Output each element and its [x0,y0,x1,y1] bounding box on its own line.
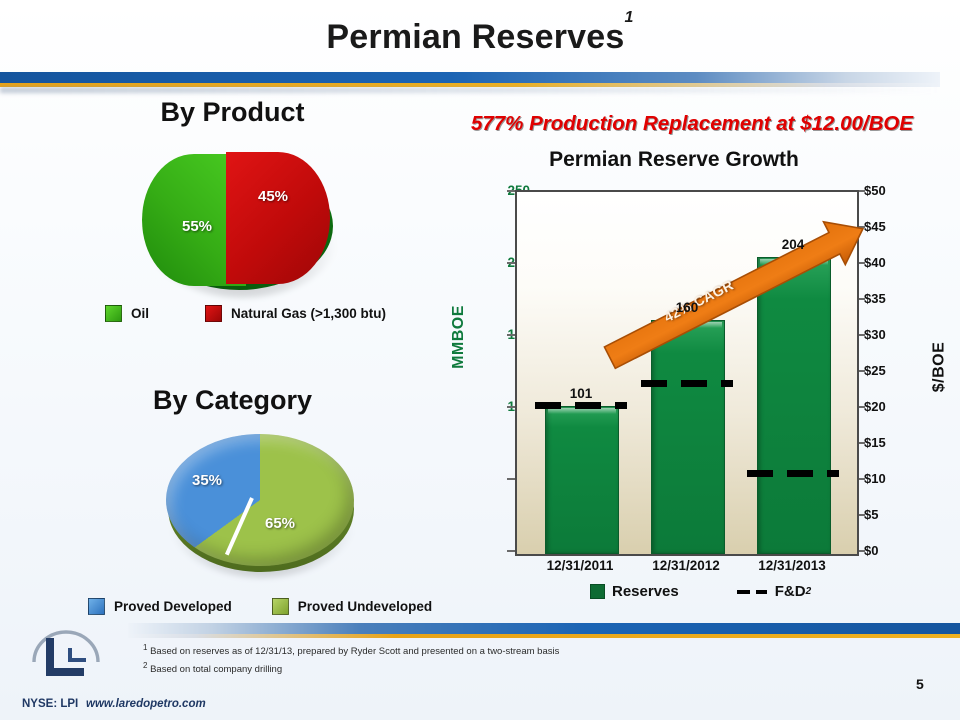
y-tick-right-10: $10 [864,471,910,486]
footnotes: 1 Based on reserves as of 12/31/13, prep… [143,641,559,677]
footnote-2: 2 Based on total company drilling [143,659,559,677]
y-tick-right-40: $40 [864,255,910,270]
legend-swatch-oil [105,305,122,322]
page-title: Permian Reserves1 [0,18,960,57]
x-tick-label-2013: 12/31/2013 [742,558,842,573]
chart-title: Permian Reserve Growth [424,148,924,172]
y-tick-right-0: $0 [864,543,910,558]
y-tick-right-30: $30 [864,327,910,342]
by-category-pie-chart: 35% 65% [150,420,370,585]
x-tick-label-2012: 12/31/2012 [636,558,736,573]
footnote-1: 1 Based on reserves as of 12/31/13, prep… [143,641,559,659]
tick-mark [507,406,515,408]
permian-reserve-growth-chart: MMBOE $/BOE 250 200 150 100 50 0 $50 $45… [440,178,952,578]
pie-label-natural-gas: 45% [258,188,288,205]
by-product-pie-chart: 55% 45% [130,140,350,300]
fd-marker-2013 [747,470,839,477]
legend-label-oil: Oil [131,306,149,321]
page-title-text: Permian Reserves [326,18,624,56]
by-product-heading: By Product [60,97,405,128]
y-tick-right-25: $25 [864,363,910,378]
tick-mark [507,478,515,480]
slide-canvas: Permian Reserves1 By Product 55% 45% Oil… [0,0,960,720]
pie-slices [166,434,354,566]
header-divider-shadow [0,87,940,93]
y-axis-right-title: $/BOE [930,342,948,393]
fd-marker-2011 [535,402,627,409]
legend-swatch-reserves [590,584,605,599]
pie-label-proved-developed: 35% [192,472,222,489]
bar-2012[interactable] [651,320,725,554]
legend-swatch-proved-undeveloped [272,598,289,615]
y-tick-right-15: $15 [864,435,910,450]
chart-legend: Reserves F&D2 [590,583,811,600]
production-replacement-callout: 577% Production Replacement at $12.00/BO… [424,112,960,136]
bar-label-2011: 101 [545,386,617,401]
bar-2011[interactable] [545,406,619,554]
page-number: 5 [916,676,924,692]
tick-mark [507,550,515,552]
plot-area: 42% CAGR 101 160 204 [515,190,859,556]
legend-swatch-natural-gas [205,305,222,322]
pie-label-proved-undeveloped: 65% [265,515,295,532]
by-product-legend: Oil Natural Gas (>1,300 btu) [105,305,386,322]
legend-label-reserves: Reserves [612,583,679,600]
tick-mark [507,190,515,192]
footer-divider-bar [128,623,960,634]
pie-slice-natural-gas [226,152,330,284]
y-tick-right-20: $20 [864,399,910,414]
x-tick-label-2011: 12/31/2011 [530,558,630,573]
y-axis-left-title: MMBOE [450,305,468,369]
page-title-superscript: 1 [624,9,633,26]
legend-label-proved-developed: Proved Developed [114,599,232,614]
bar-label-2012: 160 [651,300,723,315]
legend-label-proved-undeveloped: Proved Undeveloped [298,599,432,614]
legend-label-fd-superscript: 2 [806,586,812,597]
website-link[interactable]: www.laredopetro.com [86,698,206,710]
header-divider-bar [0,72,940,83]
bar-2013[interactable] [757,257,831,554]
laredo-logo-icon [28,622,106,684]
by-category-heading: By Category [60,385,405,416]
nyse-ticker: NYSE: LPI [22,698,78,710]
y-tick-right-50: $50 [864,183,910,198]
y-tick-right-45: $45 [864,219,910,234]
legend-dash-fd [737,590,767,594]
bar-label-2013: 204 [757,237,829,252]
y-tick-right-35: $35 [864,291,910,306]
legend-label-fd: F&D [775,583,806,600]
pie-label-oil: 55% [182,218,212,235]
legend-swatch-proved-developed [88,598,105,615]
footnote-1-text: Based on reserves as of 12/31/13, prepar… [147,646,559,657]
legend-label-natural-gas: Natural Gas (>1,300 btu) [231,306,386,321]
y-tick-right-5: $5 [864,507,910,522]
fd-marker-2012 [641,380,733,387]
tick-mark [507,262,515,264]
footnote-2-text: Based on total company drilling [147,664,282,675]
tick-mark [507,334,515,336]
by-category-legend: Proved Developed Proved Undeveloped [88,598,432,615]
